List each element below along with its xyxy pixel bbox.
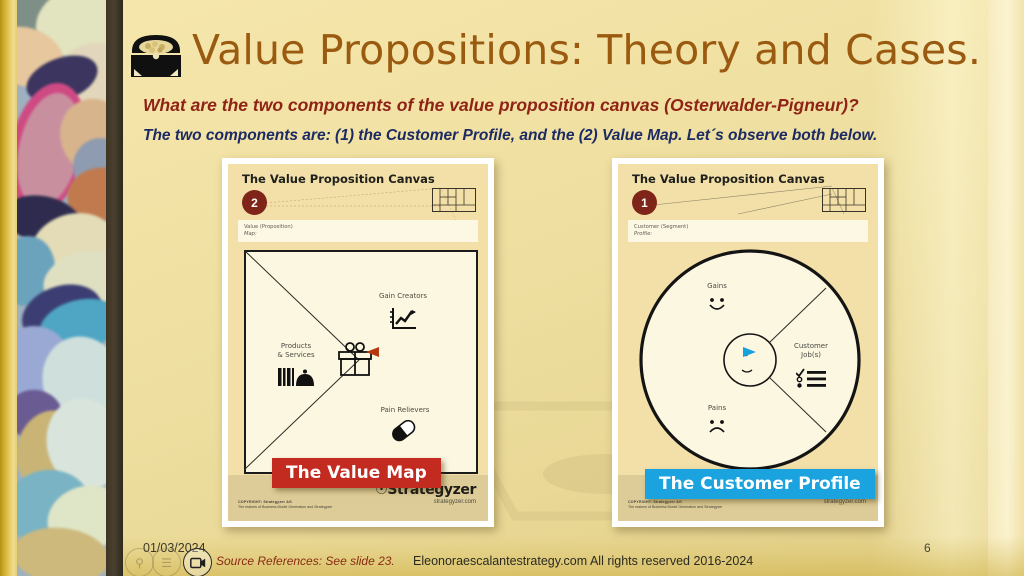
card-header-title: The Value Proposition Canvas: [632, 172, 825, 186]
notes-icon: ☰: [161, 556, 172, 570]
checklist-icon: [796, 368, 826, 390]
video-control[interactable]: [183, 548, 212, 576]
answer-line: The two components are: (1) the Customer…: [143, 127, 877, 145]
label-customer-jobs-line2: Job(s): [801, 351, 821, 359]
copyright-block: COPYRIGHT: Strategyzer AG The makers of …: [238, 500, 356, 510]
source-reference: Source References: See slide 23.: [216, 554, 395, 568]
abstract-painting-image: [17, 0, 106, 576]
label-products-line1: Products: [281, 342, 311, 350]
card-step-badge: 2: [242, 190, 267, 215]
copyright-line1: COPYRIGHT: Strategyzer AG: [628, 500, 746, 504]
label-products-services: Products & Services: [256, 342, 336, 360]
zoom-control[interactable]: ⚲: [125, 548, 154, 576]
question-line: What are the two components of the value…: [143, 95, 859, 116]
canvas-grid-icon: [432, 188, 476, 212]
video-camera-icon: [190, 557, 206, 569]
label-customer-jobs-line1: Customer: [794, 342, 828, 350]
products-icon: [278, 364, 314, 386]
sad-face-icon: [706, 418, 728, 436]
card-subtitle-strip: Value (Proposition) Map:: [238, 220, 478, 242]
label-gain-creators: Gain Creators: [358, 292, 448, 301]
card-subtitle-line1: Value (Proposition): [244, 224, 293, 230]
copyright-line2: The makers of Business Model Generation …: [238, 505, 356, 509]
label-pains: Pains: [682, 404, 752, 413]
treasure-chest-icon: [128, 29, 184, 81]
card-subtitle-strip: Customer (Segment) Profile:: [628, 220, 868, 242]
connector-double-arrow: [366, 344, 756, 360]
page-number: 6: [924, 541, 931, 555]
value-map-diagram: Gain Creators Products & Services: [238, 250, 478, 473]
card-step-badge: 1: [632, 190, 657, 215]
label-customer-jobs: Customer Job(s): [776, 342, 846, 360]
value-map-banner: The Value Map: [272, 458, 441, 488]
card-subtitle-line2: Map:: [244, 231, 257, 237]
customer-profile-card-inner: The Value Proposition Canvas 1 Customer …: [618, 164, 878, 521]
decorative-photo-strip: [0, 0, 123, 576]
card-subtitle-line2: Profile:: [634, 231, 652, 237]
slide-canvas: Value Propositions: Theory and Cases. Wh…: [0, 0, 1024, 576]
card-subtitle-line1: Customer (Segment): [634, 224, 688, 230]
chart-growth-icon: [390, 306, 418, 332]
label-gains: Gains: [682, 282, 752, 291]
copyright-line2: The makers of Business Model Generation …: [628, 505, 746, 509]
strategyzer-url: strategyzer.com: [765, 499, 866, 505]
copyright-credit: Eleonoraescalantestrategy.com All rights…: [413, 554, 753, 568]
magnifier-icon: ⚲: [135, 556, 144, 570]
customer-profile-diagram: Gains Pains Customer Job(s): [628, 250, 868, 473]
customer-profile-banner: The Customer Profile: [645, 469, 875, 499]
notes-control[interactable]: ☰: [152, 548, 181, 576]
strip-gold-edge: [0, 0, 17, 576]
strip-dark-edge: [106, 0, 123, 576]
copyright-line1: COPYRIGHT: Strategyzer AG: [238, 500, 356, 504]
background-right-highlight: [988, 0, 1024, 576]
canvas-grid-icon: [822, 188, 866, 212]
label-products-line2: & Services: [277, 351, 314, 359]
label-pain-relievers: Pain Relievers: [358, 406, 452, 415]
copyright-block: COPYRIGHT: Strategyzer AG The makers of …: [628, 500, 746, 510]
page-title: Value Propositions: Theory and Cases.: [192, 26, 981, 74]
strategyzer-url: strategyzer.com: [375, 499, 476, 505]
pill-icon: [390, 420, 418, 442]
smiley-face-icon: [706, 296, 728, 314]
card-header-title: The Value Proposition Canvas: [242, 172, 435, 186]
